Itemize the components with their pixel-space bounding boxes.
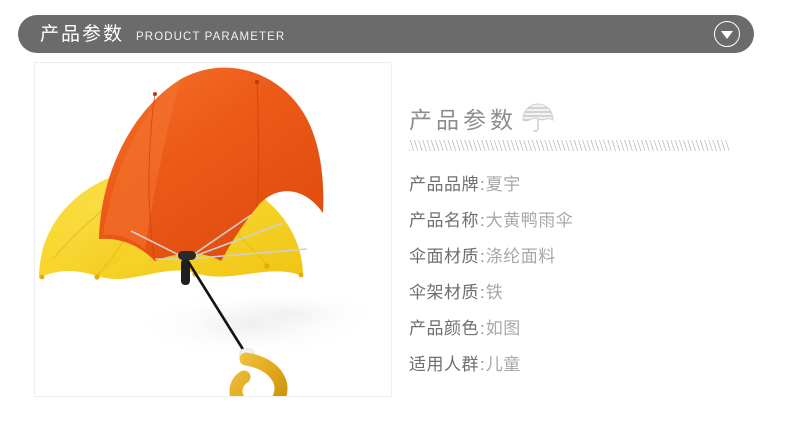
spec-value: 夏宇 <box>486 176 521 193</box>
product-photo <box>35 63 391 396</box>
spec-separator: : <box>480 356 485 373</box>
spec-row-canopy-material: 伞面材质 : 涤纶面料 <box>409 238 774 274</box>
spec-row-brand: 产品品牌 : 夏宇 <box>409 166 774 202</box>
spec-separator: : <box>480 212 485 229</box>
product-image-frame[interactable] <box>34 62 392 397</box>
product-parameter-panel: 产品参数 产品品牌 : 夏宇 产品名称 : <box>409 96 774 382</box>
spec-label: 产品品牌 <box>409 176 479 193</box>
header-title-group: 产品参数 PRODUCT PARAMETER <box>18 25 285 44</box>
spec-value: 大黄鸭雨伞 <box>486 212 574 229</box>
spec-row-name: 产品名称 : 大黄鸭雨伞 <box>409 202 774 238</box>
spec-title-row: 产品参数 <box>409 96 774 132</box>
spec-label: 伞面材质 <box>409 248 479 265</box>
title-hatch-divider <box>409 140 729 151</box>
spec-row-color: 产品颜色 : 如图 <box>409 310 774 346</box>
page-subtitle: PRODUCT PARAMETER <box>136 32 285 44</box>
spec-label: 伞架材质 <box>409 284 479 301</box>
chevron-down-icon <box>721 31 733 39</box>
spec-separator: : <box>480 320 485 337</box>
page-title: 产品参数 <box>40 25 124 44</box>
spec-value: 铁 <box>486 284 504 301</box>
spec-row-audience: 适用人群 : 儿童 <box>409 346 774 382</box>
chevron-down-circle-icon[interactable] <box>714 21 740 47</box>
spec-label: 产品名称 <box>409 212 479 229</box>
spec-separator: : <box>480 248 485 265</box>
spec-list: 产品品牌 : 夏宇 产品名称 : 大黄鸭雨伞 伞面材质 : 涤纶面料 伞架材质 … <box>409 166 774 382</box>
spec-value: 儿童 <box>486 356 521 373</box>
spec-label: 产品颜色 <box>409 320 479 337</box>
spec-value: 如图 <box>486 320 521 337</box>
spec-row-frame-material: 伞架材质 : 铁 <box>409 274 774 310</box>
spec-title: 产品参数 <box>409 109 517 132</box>
section-header-bar: 产品参数 PRODUCT PARAMETER <box>18 15 754 53</box>
spec-separator: : <box>480 284 485 301</box>
umbrella-photo-illustration <box>35 63 391 396</box>
umbrella-icon <box>521 102 555 134</box>
spec-value: 涤纶面料 <box>486 248 556 265</box>
spec-separator: : <box>480 176 485 193</box>
spec-label: 适用人群 <box>409 356 479 373</box>
